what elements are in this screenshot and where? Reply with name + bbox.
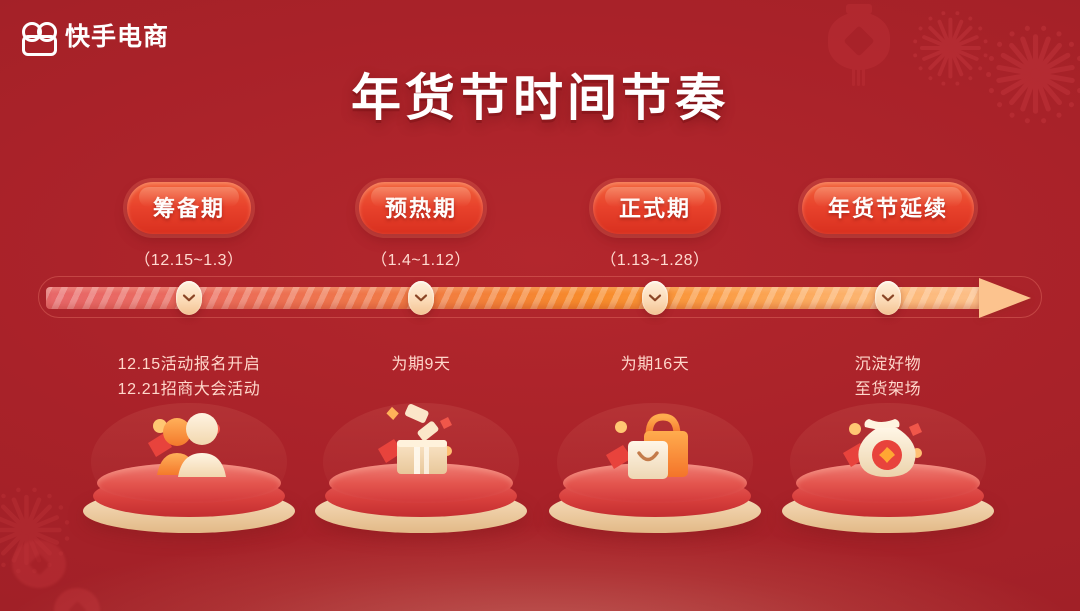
brand-name: 快手电商 bbox=[65, 25, 169, 50]
phase-badge-1[interactable]: 筹备期 bbox=[127, 182, 251, 234]
arrow-right-icon bbox=[979, 278, 1031, 318]
pedestal-artwork bbox=[782, 401, 994, 487]
chevron-down-icon bbox=[414, 293, 428, 303]
phase-badge-row: 筹备期（12.15~1.3）预热期（1.4~1.12）正式期（1.13~1.28… bbox=[0, 182, 1080, 262]
caption-line: 至货架场 bbox=[738, 377, 1038, 402]
poster-canvas: 快手电商 年货节时间节奏 筹备期（12.15~1.3）预热期（1.4~1.12）… bbox=[0, 0, 1080, 611]
phase-caption-4: 沉淀好物至货架场 bbox=[738, 352, 1038, 402]
caption-line: 12.21招商大会活动 bbox=[39, 377, 339, 402]
chevron-down-icon bbox=[881, 293, 895, 303]
pedestal-3 bbox=[549, 403, 761, 533]
caption-line: 沉淀好物 bbox=[738, 352, 1038, 377]
pedestal-artwork bbox=[315, 401, 527, 487]
timeline-marker-1[interactable] bbox=[176, 281, 202, 315]
timeline-marker-2[interactable] bbox=[408, 281, 434, 315]
timeline-marker-4[interactable] bbox=[875, 281, 901, 315]
pedestal-1 bbox=[83, 403, 295, 533]
brand-logo: 快手电商 bbox=[22, 22, 169, 52]
pedestal-artwork bbox=[549, 401, 761, 487]
pedestal-2 bbox=[315, 403, 527, 533]
shopping-bag-icon bbox=[594, 403, 716, 487]
money-bag-icon bbox=[829, 403, 947, 487]
phase-badge-4[interactable]: 年货节延续 bbox=[802, 182, 974, 234]
chevron-down-icon bbox=[648, 293, 662, 303]
pedestal-4 bbox=[782, 403, 994, 533]
phase-4: 年货节延续 bbox=[738, 182, 1038, 234]
phase-badge-3[interactable]: 正式期 bbox=[593, 182, 717, 234]
kuaishou-camera-icon bbox=[22, 22, 56, 52]
timeline-marker-3[interactable] bbox=[642, 281, 668, 315]
page-title: 年货节时间节奏 bbox=[0, 58, 1080, 130]
phase-date-3: （1.13~1.28） bbox=[505, 246, 805, 270]
phase-badge-2[interactable]: 预热期 bbox=[359, 182, 483, 234]
pedestal-artwork bbox=[83, 401, 295, 487]
users-icon bbox=[130, 407, 248, 487]
gift-box-icon bbox=[362, 403, 480, 487]
chevron-down-icon bbox=[182, 293, 196, 303]
